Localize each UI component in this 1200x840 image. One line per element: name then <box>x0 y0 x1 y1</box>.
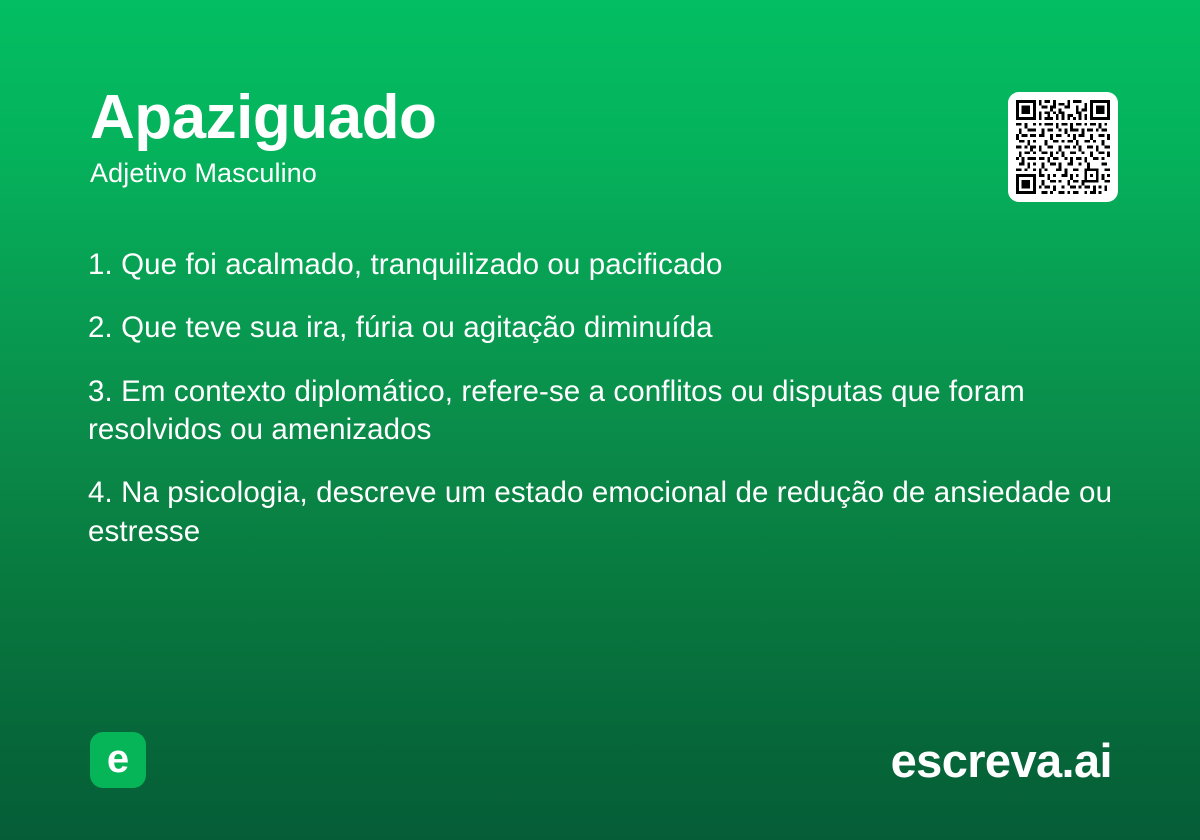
grammatical-class-label: Adjetivo Masculino <box>90 159 1110 189</box>
word-definition-card: Apaziguado Adjetivo Masculino <box>0 0 1200 840</box>
definition-item: 3. Em contexto diplomático, refere-se a … <box>88 373 1118 450</box>
definition-item: 1. Que foi acalmado, tranquilizado ou pa… <box>88 246 1118 284</box>
definition-item: 2. Que teve sua ira, fúria ou agitação d… <box>88 309 1118 347</box>
definition-item: 4. Na psicologia, descreve um estado emo… <box>88 474 1118 551</box>
qr-code[interactable] <box>1008 92 1118 202</box>
card-header: Apaziguado Adjetivo Masculino <box>90 86 1110 189</box>
page-title: Apaziguado <box>90 86 1110 149</box>
qr-code-icon <box>1016 100 1110 194</box>
brand-name: escreva.ai <box>891 737 1112 784</box>
logo-letter: e <box>107 739 129 779</box>
card-footer: e escreva.ai <box>90 732 1112 788</box>
escreva-logo-icon[interactable]: e <box>90 732 146 788</box>
definitions-list: 1. Que foi acalmado, tranquilizado ou pa… <box>88 246 1118 551</box>
